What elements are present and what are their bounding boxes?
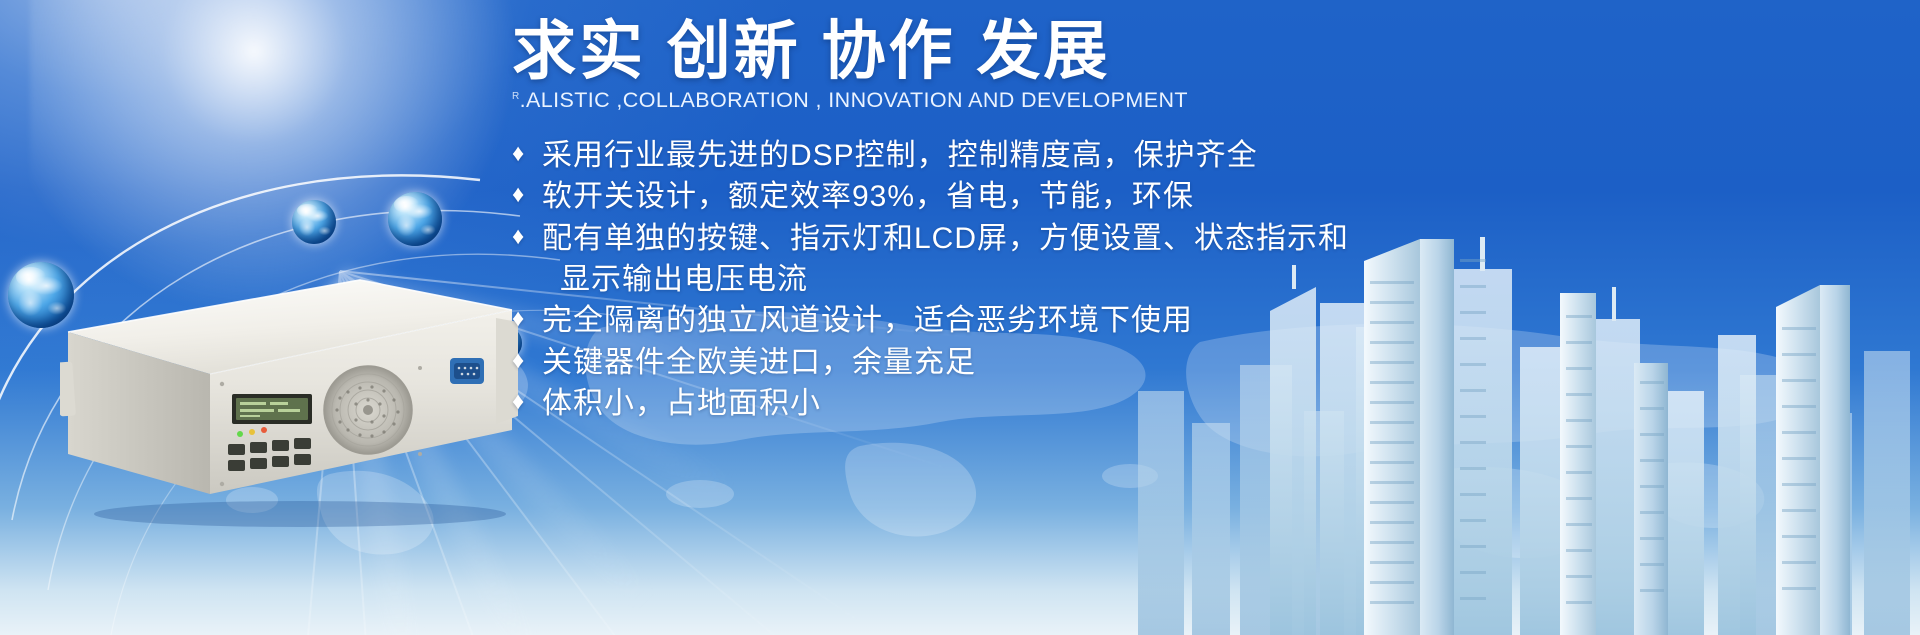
diamond-bullet-icon: ♦ <box>512 300 542 339</box>
list-item: ♦ 关键器件全欧美进口，余量充足 <box>512 342 1512 383</box>
list-item: ♦ 软开关设计，额定效率93%，省电，节能，环保 <box>512 176 1512 217</box>
diamond-bullet-icon: ♦ <box>512 218 542 257</box>
list-item: ♦ 采用行业最先进的DSP控制，控制精度高，保护齐全 <box>512 135 1512 176</box>
rackmount-power-supply <box>60 258 520 528</box>
list-item: ♦ 体积小，占地面积小 <box>512 383 1512 424</box>
subtitle-english: R.ALISTIC ,COLLABORATION , INNOVATION AN… <box>512 88 1512 113</box>
page-title: 求实 创新 协作 发展 <box>512 18 1512 86</box>
list-item-label: 关键器件全欧美进口，余量充足 <box>542 342 1512 383</box>
list-item-label: 采用行业最先进的DSP控制，控制精度高，保护齐全 <box>542 135 1512 176</box>
vga-port <box>450 358 484 384</box>
list-item-label: 体积小，占地面积小 <box>542 383 1512 424</box>
list-item: ♦ 完全隔离的独立风道设计，适合恶劣环境下使用 <box>512 300 1512 341</box>
subtitle-prefix: R <box>512 91 520 102</box>
list-item-label: 软开关设计，额定效率93%，省电，节能，环保 <box>542 176 1512 217</box>
list-item-label: 配有单独的按键、指示灯和LCD屏，方便设置、状态指示和 <box>542 218 1512 259</box>
globe-mid-upper <box>292 200 336 244</box>
subtitle-text: .ALISTIC ,COLLABORATION , INNOVATION AND… <box>520 88 1188 112</box>
fan-grille <box>324 366 412 454</box>
feature-list: ♦ 采用行业最先进的DSP控制，控制精度高，保护齐全 ♦ 软开关设计，额定效率9… <box>512 135 1512 425</box>
list-item-continuation: ♦ 显示输出电压电流 <box>512 259 1512 300</box>
diamond-bullet-icon: ♦ <box>512 135 542 174</box>
list-item-label: 完全隔离的独立风道设计，适合恶劣环境下使用 <box>542 300 1512 341</box>
globe-top-right <box>388 192 442 246</box>
list-item-label: 显示输出电压电流 <box>542 259 1512 300</box>
list-item: ♦ 配有单独的按键、指示灯和LCD屏，方便设置、状态指示和 <box>512 218 1512 259</box>
promo-banner: 求实 创新 协作 发展 R.ALISTIC ,COLLABORATION , I… <box>0 0 1920 635</box>
banner-text-block: 求实 创新 协作 发展 R.ALISTIC ,COLLABORATION , I… <box>512 18 1512 425</box>
diamond-bullet-icon: ♦ <box>512 383 542 422</box>
diamond-bullet-icon: ♦ <box>512 176 542 215</box>
diamond-bullet-icon: ♦ <box>512 342 542 381</box>
